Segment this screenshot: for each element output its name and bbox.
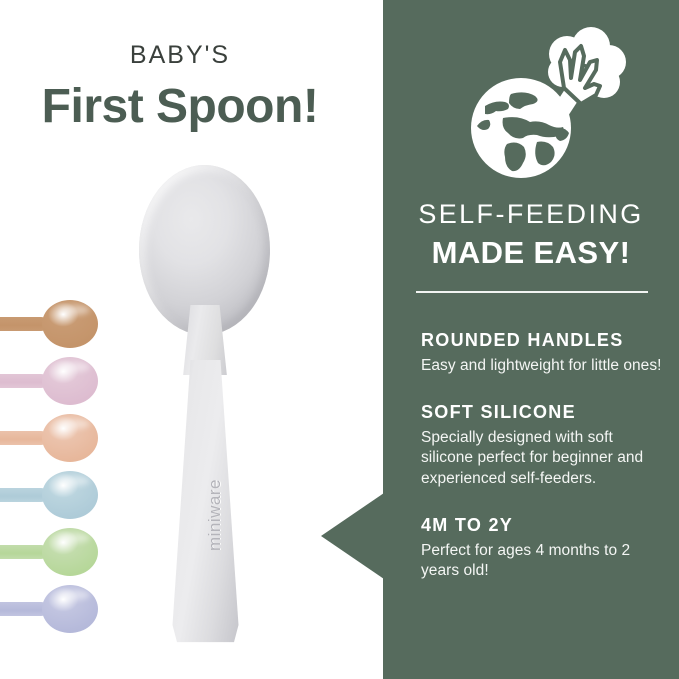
feature-body: Specially designed with soft silicone pe… (421, 428, 669, 489)
main-product-spoon: miniware (130, 165, 280, 645)
panel-title: SELF-FEEDING MADE EASY! (383, 200, 679, 270)
panel-title-line-1: SELF-FEEDING (383, 200, 679, 230)
variant-gloss (60, 476, 90, 486)
variant-bowl (42, 528, 98, 576)
variant-gloss (60, 533, 90, 543)
color-variant-tan (0, 300, 98, 348)
variant-handle (0, 488, 48, 502)
color-variant-strip (0, 300, 110, 645)
variant-handle (0, 317, 48, 331)
variant-gloss (60, 305, 90, 315)
color-variant-lavender (0, 585, 98, 633)
variant-bowl (42, 300, 98, 348)
title-divider (416, 291, 648, 293)
variant-handle (0, 602, 48, 616)
feature-title: 4M TO 2Y (421, 515, 669, 536)
variant-bowl (42, 357, 98, 405)
variant-bowl (42, 585, 98, 633)
feature-body: Perfect for ages 4 months to 2 years old… (421, 541, 669, 582)
feature-item: SOFT SILICONE Specially designed with so… (421, 402, 669, 489)
globe-broccoli-icon (463, 22, 633, 182)
feature-item: 4M TO 2Y Perfect for ages 4 months to 2 … (421, 515, 669, 582)
panel-title-line-2: MADE EASY! (383, 236, 679, 270)
variant-bowl (42, 414, 98, 462)
feature-item: ROUNDED HANDLES Easy and lightweight for… (421, 330, 669, 376)
product-infographic: BABY'S First Spoon! miniware (0, 0, 679, 679)
color-variant-blue (0, 471, 98, 519)
feature-body: Easy and lightweight for little ones! (421, 356, 669, 376)
feature-title: SOFT SILICONE (421, 402, 669, 423)
color-variant-pink (0, 357, 98, 405)
color-variant-peach (0, 414, 98, 462)
color-variant-green (0, 528, 98, 576)
variant-gloss (60, 419, 90, 429)
left-panel: BABY'S First Spoon! miniware (0, 0, 383, 679)
variant-handle (0, 374, 48, 388)
variant-gloss (60, 362, 90, 372)
variant-gloss (60, 590, 90, 600)
feature-list: ROUNDED HANDLES Easy and lightweight for… (421, 330, 669, 582)
feature-title: ROUNDED HANDLES (421, 330, 669, 351)
headline-block: BABY'S First Spoon! (0, 42, 360, 132)
spoon-handle (168, 360, 243, 645)
variant-handle (0, 431, 48, 445)
variant-bowl (42, 471, 98, 519)
variant-handle (0, 545, 48, 559)
page-title: First Spoon! (0, 82, 360, 132)
headline-eyebrow: BABY'S (0, 42, 360, 70)
